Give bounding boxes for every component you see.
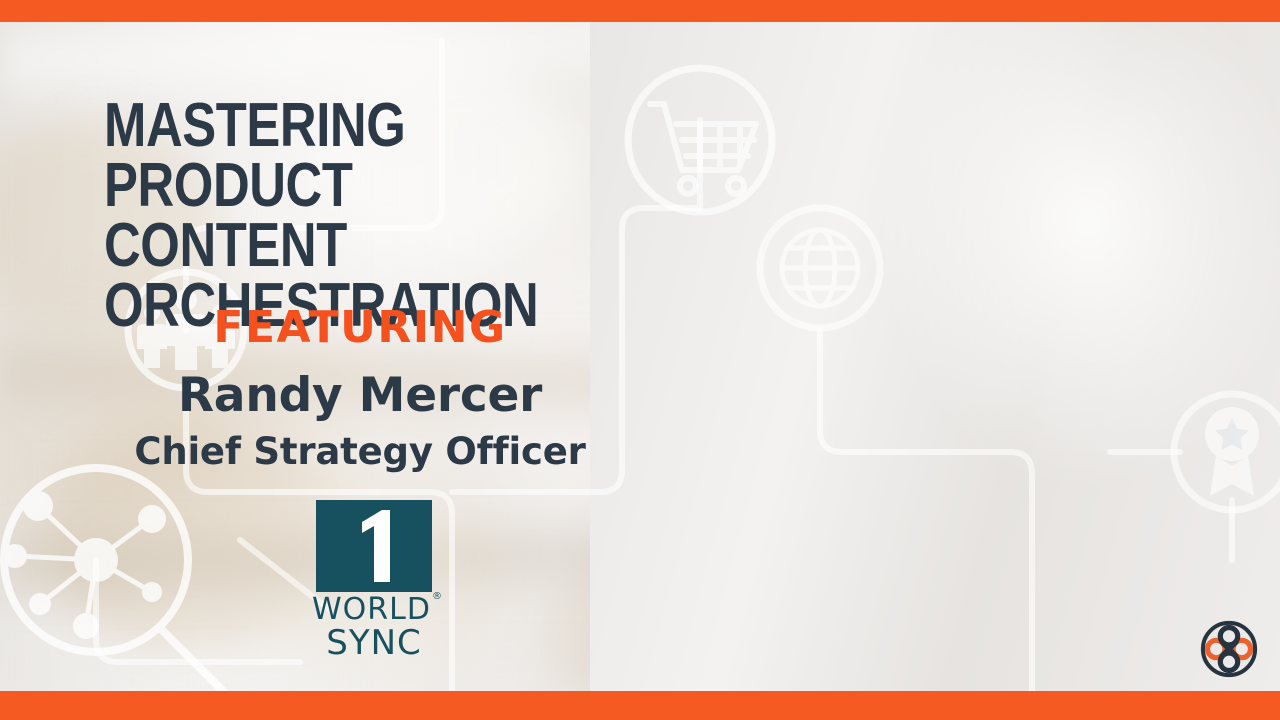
brand-mark-icon <box>1200 620 1258 678</box>
logo-registered-mark: ® <box>432 591 443 602</box>
featuring-label: FEATURING <box>110 306 610 350</box>
portrait-backdrop <box>590 22 1280 691</box>
logo-word-world: WORLD® <box>312 595 442 625</box>
speaker-title: Chief Strategy Officer <box>110 433 610 470</box>
page-title: MASTERING PRODUCT CONTENT ORCHESTRATION <box>104 96 645 337</box>
speaker-name: Randy Mercer <box>110 372 610 419</box>
logo-world-text: WORLD <box>312 592 431 627</box>
logo-word-sync: SYNC <box>312 626 436 660</box>
speaker-portrait <box>590 22 1280 691</box>
logo-one-glyph <box>316 500 432 592</box>
brand-logo: WORLD® SYNC <box>312 500 436 660</box>
orange-accent-bar-bottom <box>0 691 1280 720</box>
orange-accent-bar-top <box>0 0 1280 22</box>
logo-numeral-mark <box>316 500 432 592</box>
promo-card: MASTERING PRODUCT CONTENT ORCHESTRATION … <box>0 0 1280 720</box>
